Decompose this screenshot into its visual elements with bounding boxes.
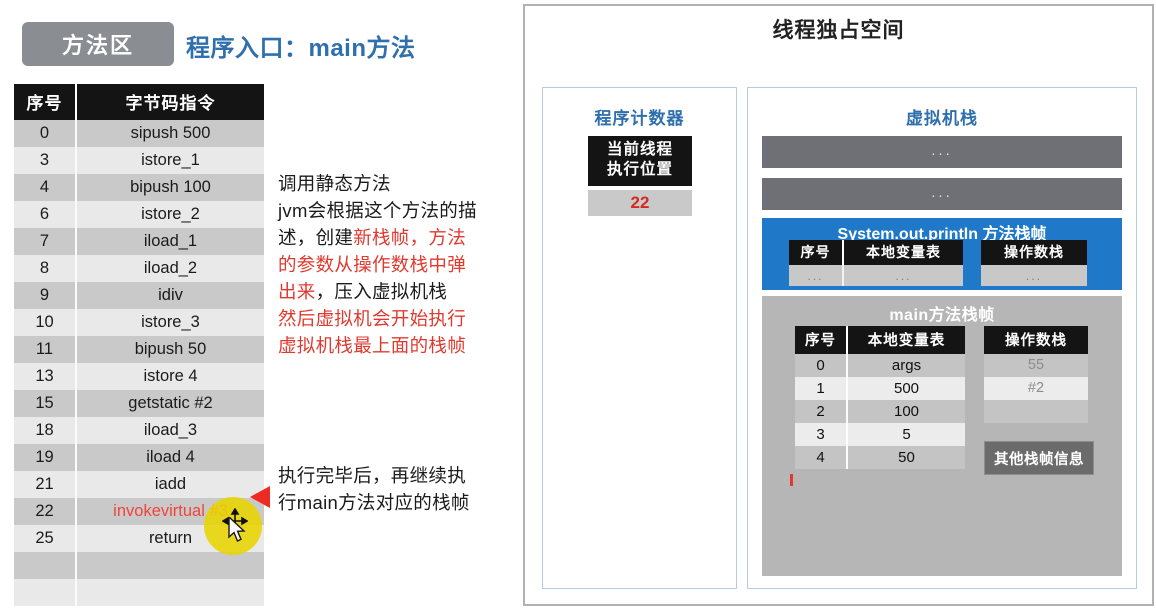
bytecode-cell-instruction <box>76 579 264 606</box>
annotation-after-line-1: 执行完毕后，再继续执 <box>278 462 518 489</box>
program-counter-box: 程序计数器 当前线程 执行位置 22 <box>542 87 737 589</box>
annotation-line-3-red: 新栈帧，方法 <box>353 227 466 248</box>
stack-frame-placeholder-bar: ... <box>762 178 1122 210</box>
bytecode-header-index: 序号 <box>14 84 76 120</box>
red-pointer-arrow-icon <box>250 486 270 508</box>
bytecode-cell-instruction <box>76 552 264 579</box>
bytecode-row[interactable]: 11bipush 50 <box>14 336 264 363</box>
main-lvt-cell-value: 50 <box>847 446 965 469</box>
bytecode-cell-instruction: bipush 100 <box>76 174 264 201</box>
bytecode-cell-index: 7 <box>14 228 76 255</box>
mouse-pointer-icon <box>228 517 248 543</box>
virtual-machine-stack-box: 虚拟机栈 ... ... System.out.println 方法栈帧 序号 … <box>747 87 1137 589</box>
main-lvt-cell-index: 2 <box>795 400 847 423</box>
bytecode-cell-index <box>14 579 76 606</box>
println-ops-header-row: 操作数栈 <box>981 240 1087 265</box>
main-ops-row <box>984 400 1088 423</box>
annotation-line-5: 出来，压入虚拟机栈 <box>278 278 516 305</box>
virtual-machine-stack-title: 虚拟机栈 <box>748 104 1136 129</box>
annotation-static-call: 调用静态方法 jvm会根据这个方法的描 述，创建新栈帧，方法 的参数从操作数栈中… <box>278 170 516 359</box>
bytecode-cell-instruction: idiv <box>76 282 264 309</box>
bytecode-cell-index: 11 <box>14 336 76 363</box>
main-lvt-row: 450 <box>795 446 965 469</box>
bytecode-cell-instruction: istore_3 <box>76 309 264 336</box>
main-ops-cell: #2 <box>984 377 1088 400</box>
stack-frame-placeholder-bar: ... <box>762 136 1122 168</box>
bytecode-row[interactable]: 3istore_1 <box>14 147 264 174</box>
current-thread-position-label: 当前线程 执行位置 <box>588 136 692 186</box>
bytecode-row[interactable]: 7iload_1 <box>14 228 264 255</box>
bytecode-cell-instruction: iload_2 <box>76 255 264 282</box>
main-ops-cell <box>984 400 1088 423</box>
main-lvt-cell-index: 0 <box>795 354 847 377</box>
bytecode-row[interactable]: 8iload_2 <box>14 255 264 282</box>
annotation-line-5-black: ，压入虚拟机栈 <box>316 281 448 302</box>
bytecode-header-instruction: 字节码指令 <box>76 84 264 120</box>
main-lvt-cell-value: 5 <box>847 423 965 446</box>
bytecode-cell-index: 0 <box>14 120 76 147</box>
other-frame-info-button[interactable]: 其他栈帧信息 <box>984 441 1094 475</box>
bytecode-row[interactable]: 21iadd <box>14 471 264 498</box>
println-lvt-header-index: 序号 <box>789 240 843 265</box>
bytecode-cell-instruction: iload_1 <box>76 228 264 255</box>
annotation-line-6: 然后虚拟机会开始执行 <box>278 305 516 332</box>
bytecode-cell-index: 13 <box>14 363 76 390</box>
main-lvt-header-row: 序号 本地变量表 <box>795 326 965 354</box>
thread-panel-title: 线程独占空间 <box>525 14 1152 44</box>
println-lvt-header-row: 序号 本地变量表 <box>789 240 963 265</box>
bytecode-cell-instruction: sipush 500 <box>76 120 264 147</box>
bytecode-row[interactable]: 4bipush 100 <box>14 174 264 201</box>
annotation-line-2: jvm会根据这个方法的描 <box>278 197 516 224</box>
main-lvt-row: 2100 <box>795 400 965 423</box>
bytecode-row[interactable]: 19iload 4 <box>14 444 264 471</box>
bytecode-cell-index: 25 <box>14 525 76 552</box>
main-lvt-header-index: 序号 <box>795 326 847 354</box>
bytecode-row[interactable] <box>14 552 264 579</box>
bytecode-cell-index: 3 <box>14 147 76 174</box>
println-lvt-cell-index: ... <box>789 265 843 286</box>
red-tick-marker <box>790 474 793 486</box>
bytecode-cell-index: 8 <box>14 255 76 282</box>
bytecode-cell-instruction: iload_3 <box>76 417 264 444</box>
annotation-line-7: 虚拟机栈最上面的栈帧 <box>278 332 516 359</box>
bytecode-cell-instruction: istore_2 <box>76 201 264 228</box>
bytecode-row[interactable]: 15getstatic #2 <box>14 390 264 417</box>
method-area-badge-label: 方法区 <box>62 28 134 60</box>
annotation-line-3-black: 述，创建 <box>278 227 353 248</box>
bytecode-row[interactable]: 0sipush 500 <box>14 120 264 147</box>
main-stack-frame: main方法栈帧 序号 本地变量表 0args1500210035450 操作数… <box>762 296 1122 576</box>
main-lvt-cell-index: 4 <box>795 446 847 469</box>
println-ops-cell: ... <box>981 265 1087 286</box>
bytecode-table-header-row: 序号 字节码指令 <box>14 84 264 120</box>
program-counter-title: 程序计数器 <box>543 104 736 129</box>
println-stack-frame: System.out.println 方法栈帧 序号 本地变量表 ... ...… <box>762 218 1122 290</box>
bytecode-cell-index: 21 <box>14 471 76 498</box>
annotation-line-4: 的参数从操作数栈中弹 <box>278 251 516 278</box>
bytecode-row[interactable]: 13istore 4 <box>14 363 264 390</box>
annotation-line-3: 述，创建新栈帧，方法 <box>278 224 516 251</box>
println-operand-stack-table: 操作数栈 ... <box>981 240 1087 286</box>
bytecode-row[interactable]: 18iload_3 <box>14 417 264 444</box>
main-lvt-cell-index: 3 <box>795 423 847 446</box>
program-counter-value: 22 <box>588 190 692 216</box>
method-area-badge: 方法区 <box>22 22 174 66</box>
bytecode-cell-index <box>14 552 76 579</box>
thread-exclusive-space-panel: 线程独占空间 程序计数器 当前线程 执行位置 22 虚拟机栈 ... ... S… <box>523 4 1154 606</box>
current-thread-label-line2: 执行位置 <box>588 160 692 180</box>
bytecode-row[interactable]: 9idiv <box>14 282 264 309</box>
main-ops-header-row: 操作数栈 <box>984 326 1088 354</box>
main-local-variable-table: 序号 本地变量表 0args1500210035450 <box>795 326 965 469</box>
bytecode-cell-index: 22 <box>14 498 76 525</box>
main-lvt-row: 35 <box>795 423 965 446</box>
main-lvt-header-vars: 本地变量表 <box>847 326 965 354</box>
println-ops-header: 操作数栈 <box>981 240 1087 265</box>
main-stack-frame-title: main方法栈帧 <box>762 301 1122 325</box>
println-lvt-row: ... ... <box>789 265 963 286</box>
annotation-after-line-2: 行main方法对应的栈帧 <box>278 489 518 516</box>
main-lvt-cell-value: args <box>847 354 965 377</box>
annotation-line-5-red: 出来 <box>278 281 316 302</box>
bytecode-cell-index: 18 <box>14 417 76 444</box>
annotation-line-1: 调用静态方法 <box>278 170 516 197</box>
current-thread-label-line1: 当前线程 <box>588 140 692 160</box>
bytecode-cell-index: 19 <box>14 444 76 471</box>
bytecode-row[interactable]: 10istore_3 <box>14 309 264 336</box>
main-ops-row: #2 <box>984 377 1088 400</box>
main-ops-row: 55 <box>984 354 1088 377</box>
main-ops-cell: 55 <box>984 354 1088 377</box>
main-lvt-cell-value: 500 <box>847 377 965 400</box>
bytecode-cell-index: 9 <box>14 282 76 309</box>
other-frame-info-label: 其他栈帧信息 <box>994 448 1084 469</box>
main-lvt-cell-value: 100 <box>847 400 965 423</box>
bytecode-cell-instruction: istore_1 <box>76 147 264 174</box>
bytecode-cell-index: 4 <box>14 174 76 201</box>
println-lvt-header-vars: 本地变量表 <box>843 240 963 265</box>
main-lvt-row: 0args <box>795 354 965 377</box>
bytecode-cell-instruction: istore 4 <box>76 363 264 390</box>
main-ops-header: 操作数栈 <box>984 326 1088 354</box>
annotation-after-execution: 执行完毕后，再继续执 行main方法对应的栈帧 <box>278 462 518 516</box>
bytecode-cell-index: 15 <box>14 390 76 417</box>
bytecode-cell-instruction: iadd <box>76 471 264 498</box>
main-lvt-row: 1500 <box>795 377 965 400</box>
main-operand-stack-table: 操作数栈 55#2 <box>984 326 1088 423</box>
bytecode-row[interactable] <box>14 579 264 606</box>
bytecode-row[interactable]: 6istore_2 <box>14 201 264 228</box>
println-lvt-cell-value: ... <box>843 265 963 286</box>
bytecode-cell-instruction: bipush 50 <box>76 336 264 363</box>
program-entry-title: 程序入口：main方法 <box>186 28 416 63</box>
bytecode-cell-index: 10 <box>14 309 76 336</box>
println-ops-row: ... <box>981 265 1087 286</box>
println-local-variable-table: 序号 本地变量表 ... ... <box>789 240 963 286</box>
bytecode-cell-instruction: getstatic #2 <box>76 390 264 417</box>
main-lvt-cell-index: 1 <box>795 377 847 400</box>
bytecode-cell-instruction: iload 4 <box>76 444 264 471</box>
bytecode-cell-index: 6 <box>14 201 76 228</box>
